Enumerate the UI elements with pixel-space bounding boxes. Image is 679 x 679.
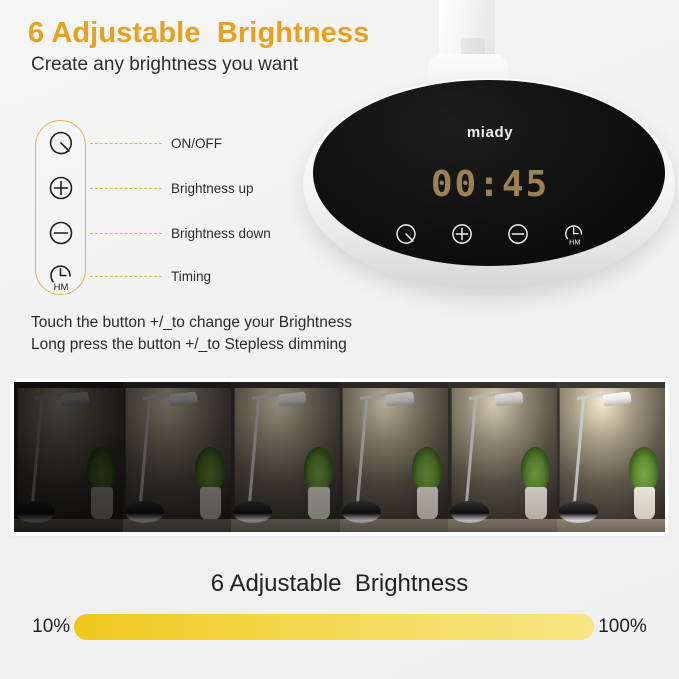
brightness-panel-4 — [340, 382, 449, 532]
brightness-panel-3 — [231, 382, 340, 532]
brightness-panel-6 — [557, 382, 666, 532]
brand-logo: miady — [295, 124, 679, 141]
plus-icon — [35, 167, 86, 209]
brightness-panel-5 — [448, 382, 557, 532]
scale-max-label: 100% — [598, 616, 647, 638]
panel-dim-overlay — [14, 382, 123, 532]
panel-dim-overlay — [340, 382, 449, 532]
lamp-illustration: miady 00:45 — [295, 0, 679, 306]
timer-icon-text: HM — [53, 282, 68, 293]
lamp-plus-icon[interactable] — [446, 218, 478, 250]
legend-label-brightness-down: Brightness down — [171, 226, 271, 241]
power-icon — [35, 122, 86, 164]
instruction-line-1: Touch the button +/_to change your Brigh… — [31, 314, 352, 332]
lamp-timer-icon[interactable]: HM — [558, 218, 590, 250]
product-feature-page: 6 Adjustable Brightness Create any brigh… — [0, 0, 679, 679]
scale-min-label: 10% — [32, 616, 70, 638]
brightness-panel-2 — [123, 382, 232, 532]
timer-icon: HM — [35, 255, 86, 297]
lamp-power-icon[interactable] — [390, 218, 422, 250]
brightness-panel-1 — [14, 382, 123, 532]
leader-line — [90, 188, 162, 189]
panel-dim-overlay — [448, 382, 557, 532]
lamp-button-row: HM — [390, 218, 590, 250]
leader-line — [90, 276, 162, 277]
legend-label-brightness-up: Brightness up — [171, 181, 254, 196]
legend-label-onoff: ON/OFF — [171, 136, 222, 151]
footer-title: 6 Adjustable Brightness — [0, 570, 679, 598]
timer-display: 00:45 — [295, 164, 679, 205]
instruction-line-2: Long press the button +/_to Stepless dim… — [31, 336, 347, 354]
leader-line — [90, 233, 162, 234]
lamp-minus-icon[interactable] — [502, 218, 534, 250]
leader-line — [90, 143, 162, 144]
page-subtitle: Create any brightness you want — [31, 54, 298, 76]
legend-label-timing: Timing — [171, 269, 211, 284]
lamp-timer-icon-text: HM — [569, 238, 581, 247]
panel-dim-overlay — [231, 382, 340, 532]
brightness-scale: 10% 100% — [0, 614, 679, 640]
minus-icon — [35, 212, 86, 254]
brightness-photo-strip — [9, 377, 670, 537]
brightness-gradient-bar — [74, 614, 594, 640]
panel-dim-overlay — [123, 382, 232, 532]
